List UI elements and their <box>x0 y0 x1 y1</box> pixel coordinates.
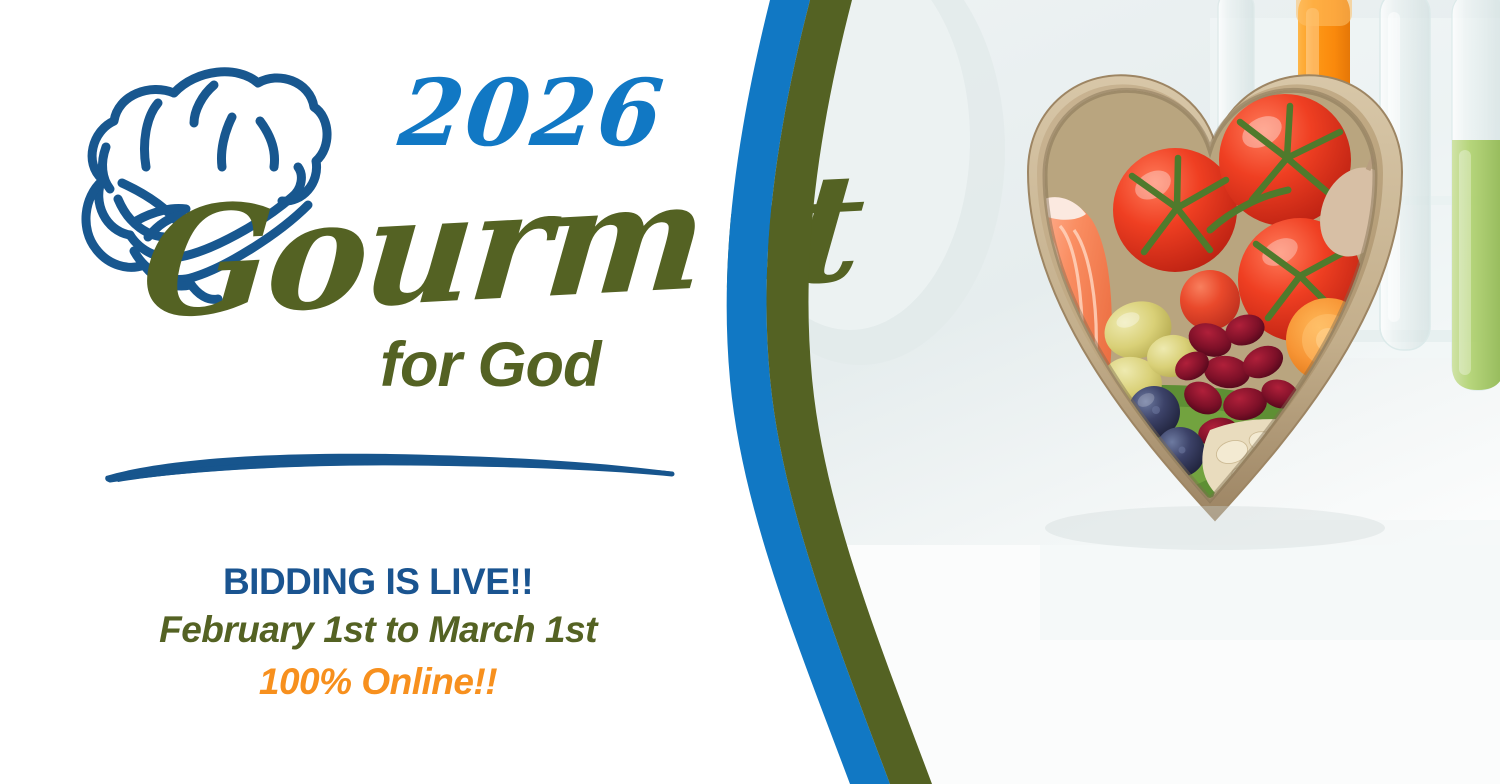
brush-underline-decoration <box>100 432 680 492</box>
brand-script-name: Gourmet <box>137 161 714 340</box>
brand-wordmark: Gourmet for God <box>150 190 710 420</box>
food-photograph <box>740 0 1500 784</box>
bidding-dates-text: February 1st to March 1st <box>0 604 756 656</box>
promotional-banner: 2026 Gourmet for God BIDDING IS LIVE!! F… <box>0 0 1500 784</box>
tagline-block: BIDDING IS LIVE!! February 1st to March … <box>0 560 756 708</box>
left-content-panel: 2026 Gourmet for God BIDDING IS LIVE!! F… <box>0 0 760 784</box>
bidding-status-text: BIDDING IS LIVE!! <box>0 560 756 604</box>
brand-subtitle: for God <box>380 330 600 400</box>
photo-image <box>740 0 1500 784</box>
online-only-text: 100% Online!! <box>0 656 756 708</box>
